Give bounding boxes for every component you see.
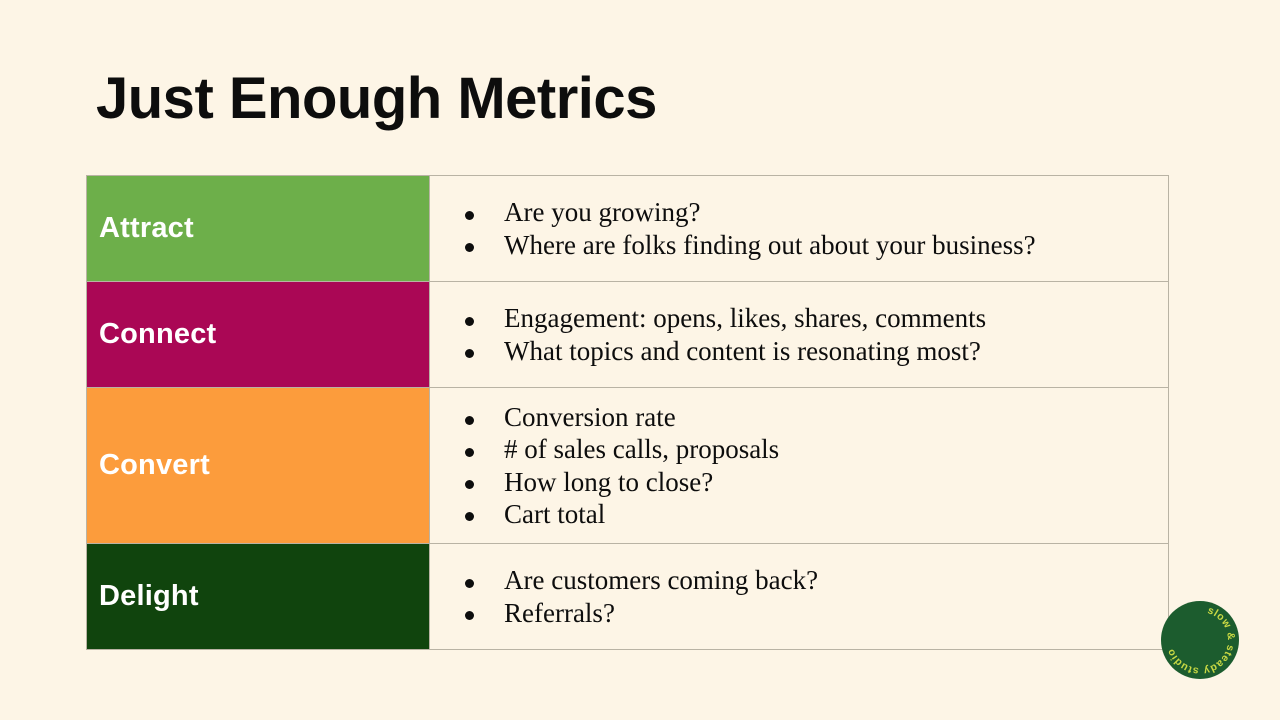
stage-label: Convert	[99, 450, 429, 482]
bullet-dot-icon	[465, 611, 474, 620]
studio-logo-badge: slow & steady studio	[1160, 600, 1240, 680]
table-row: Delight Are customers coming back? Refer…	[87, 544, 1169, 650]
table-row: Connect Engagement: opens, likes, shares…	[87, 282, 1169, 388]
list-item-label: Engagement: opens, likes, shares, commen…	[504, 303, 986, 333]
list-item: How long to close?	[448, 466, 1158, 498]
list-item-label: Are you growing?	[504, 197, 700, 227]
list-item: Referrals?	[448, 597, 1158, 629]
list-item: What topics and content is resonating mo…	[448, 335, 1158, 367]
bullet-list: Are you growing? Where are folks finding…	[448, 196, 1158, 260]
stage-cell-convert: Convert	[87, 388, 430, 544]
list-item-label: Are customers coming back?	[504, 565, 818, 595]
bullet-dot-icon	[465, 349, 474, 358]
list-item-label: Where are folks finding out about your b…	[504, 230, 1036, 260]
list-item-label: Cart total	[504, 499, 605, 529]
list-item-label: How long to close?	[504, 467, 713, 497]
bullet-dot-icon	[465, 211, 474, 220]
bullet-list: Conversion rate # of sales calls, propos…	[448, 401, 1158, 530]
metrics-cell-connect: Engagement: opens, likes, shares, commen…	[430, 282, 1169, 388]
list-item: Where are folks finding out about your b…	[448, 229, 1158, 261]
bullet-dot-icon	[465, 480, 474, 489]
stage-cell-attract: Attract	[87, 176, 430, 282]
bullet-dot-icon	[465, 512, 474, 521]
stage-cell-delight: Delight	[87, 544, 430, 650]
bullet-dot-icon	[465, 579, 474, 588]
metrics-cell-attract: Are you growing? Where are folks finding…	[430, 176, 1169, 282]
list-item: # of sales calls, proposals	[448, 433, 1158, 465]
list-item: Conversion rate	[448, 401, 1158, 433]
bullet-list: Engagement: opens, likes, shares, commen…	[448, 302, 1158, 366]
list-item-label: Referrals?	[504, 598, 615, 628]
metrics-cell-delight: Are customers coming back? Referrals?	[430, 544, 1169, 650]
metrics-cell-convert: Conversion rate # of sales calls, propos…	[430, 388, 1169, 544]
page-title: Just Enough Metrics	[96, 66, 657, 133]
list-item-label: # of sales calls, proposals	[504, 434, 779, 464]
bullet-dot-icon	[465, 243, 474, 252]
bullet-list: Are customers coming back? Referrals?	[448, 564, 1158, 628]
stage-label: Delight	[99, 581, 429, 613]
list-item-label: Conversion rate	[504, 402, 676, 432]
list-item: Cart total	[448, 498, 1158, 530]
bullet-dot-icon	[465, 416, 474, 425]
bullet-dot-icon	[465, 317, 474, 326]
stage-cell-connect: Connect	[87, 282, 430, 388]
table-row: Convert Conversion rate # of sales calls…	[87, 388, 1169, 544]
list-item: Are you growing?	[448, 196, 1158, 228]
bullet-dot-icon	[465, 448, 474, 457]
list-item: Are customers coming back?	[448, 564, 1158, 596]
stage-label: Connect	[99, 319, 429, 351]
slide-canvas: Just Enough Metrics Attract Are you grow…	[0, 0, 1280, 720]
list-item: Engagement: opens, likes, shares, commen…	[448, 302, 1158, 334]
list-item-label: What topics and content is resonating mo…	[504, 336, 981, 366]
table-row: Attract Are you growing? Where are folks…	[87, 176, 1169, 282]
stage-label: Attract	[99, 213, 429, 245]
metrics-table: Attract Are you growing? Where are folks…	[86, 175, 1169, 650]
